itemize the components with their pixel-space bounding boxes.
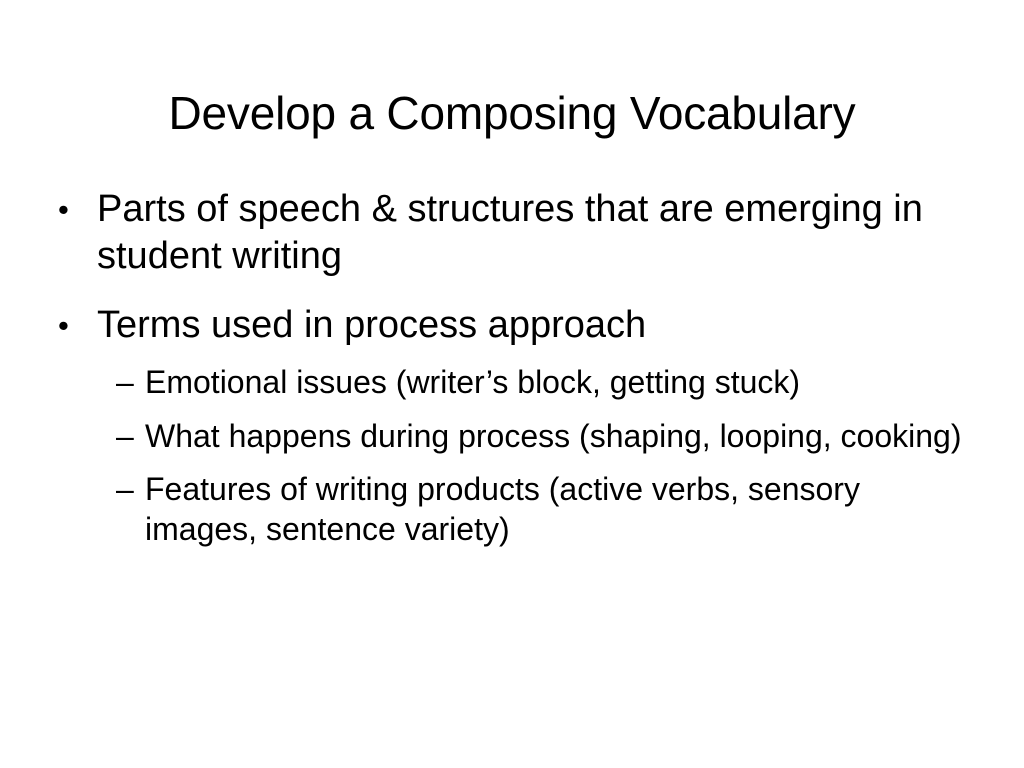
bullet-dash-icon: – xyxy=(116,362,145,402)
bullet-text: Features of writing products (active ver… xyxy=(145,469,975,550)
bullet-level1: • Terms used in process approach xyxy=(58,302,978,349)
bullet-text: Parts of speech & structures that are em… xyxy=(97,186,969,280)
bullet-dash-icon: – xyxy=(116,416,145,456)
bullet-text: Emotional issues (writer’s block, gettin… xyxy=(145,362,975,402)
bullet-text: What happens during process (shaping, lo… xyxy=(145,416,975,456)
slide-title: Develop a Composing Vocabulary xyxy=(0,87,1024,140)
bullet-dot-icon: • xyxy=(58,302,97,349)
bullet-dash-icon: – xyxy=(116,469,145,509)
bullet-level2: – Features of writing products (active v… xyxy=(58,469,978,550)
bullet-level1: • Parts of speech & structures that are … xyxy=(58,186,978,280)
slide-body-content: • Parts of speech & structures that are … xyxy=(58,186,978,550)
slide-canvas: Develop a Composing Vocabulary • Parts o… xyxy=(0,0,1024,768)
bullet-level2: – Emotional issues (writer’s block, gett… xyxy=(58,362,978,402)
bullet-dot-icon: • xyxy=(58,186,97,233)
bullet-text: Terms used in process approach xyxy=(97,302,969,349)
bullet-level2: – What happens during process (shaping, … xyxy=(58,416,978,456)
